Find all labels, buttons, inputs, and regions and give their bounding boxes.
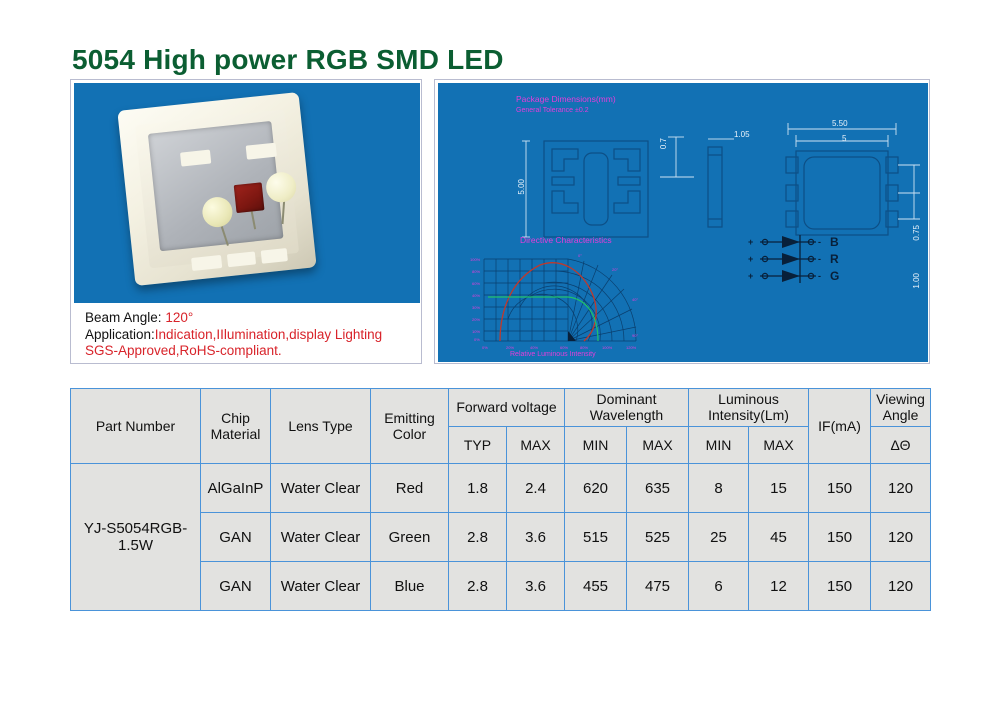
svg-text:100%: 100% (470, 257, 481, 262)
application-value: Indication,IIlumination,display Lighting (155, 327, 382, 342)
technical-drawing: Package Dimensions(mm) General Tolerance… (438, 83, 928, 362)
lens-view-svg (768, 115, 928, 245)
cell-chip-material: GAN (201, 513, 271, 562)
led-package-image (117, 92, 316, 286)
th-li-min: MIN (689, 426, 749, 464)
svg-text:80%: 80% (580, 345, 588, 350)
drawing-subheading: General Tolerance ±0.2 (516, 107, 589, 114)
cell-li-max: 15 (749, 464, 809, 513)
beam-angle-line: Beam Angle: 120° (85, 310, 423, 327)
cell-viewing-angle: 120 (871, 562, 931, 611)
led-notch (191, 255, 222, 271)
dim-pad-width: 1.00 (912, 273, 921, 289)
svg-text:120%: 120% (626, 345, 637, 350)
cell-li-min: 8 (689, 464, 749, 513)
polarity-diagram-svg: +++ --- (738, 233, 898, 295)
svg-text:-: - (818, 271, 821, 281)
led-notch (246, 143, 277, 160)
th-fv-typ: TYP (449, 426, 507, 464)
dim-pad-pitch: 0.75 (912, 225, 921, 241)
cell-fv-max: 2.4 (507, 464, 565, 513)
cell-emitting-color: Green (371, 513, 449, 562)
cell-dw-max: 635 (627, 464, 689, 513)
dim-thickness: 1.05 (734, 130, 750, 139)
svg-text:90°: 90° (632, 333, 638, 338)
table-header-row-top: Part Number Chip Material Lens Type Emit… (71, 389, 931, 427)
package-drawing-panel: Package Dimensions(mm) General Tolerance… (434, 79, 930, 364)
application-line: Application:Indication,IIlumination,disp… (85, 327, 423, 344)
svg-text:100%: 100% (602, 345, 613, 350)
cell-fv-max: 3.6 (507, 513, 565, 562)
svg-text:40°: 40° (632, 297, 638, 302)
th-emitting-color: Emitting Color (371, 389, 449, 464)
th-viewing-angle: Viewing Angle (871, 389, 931, 427)
led-die-red (234, 182, 265, 213)
cell-li-min: 25 (689, 513, 749, 562)
cell-viewing-angle: 120 (871, 464, 931, 513)
cell-emitting-color: Blue (371, 562, 449, 611)
dim-width-inner: 5 (842, 134, 846, 143)
svg-text:+: + (748, 254, 753, 264)
th-forward-voltage: Forward voltage (449, 389, 565, 427)
page-title: 5054 High power RGB SMD LED (72, 44, 504, 76)
cell-lens-type: Water Clear (271, 513, 371, 562)
svg-text:40%: 40% (530, 345, 538, 350)
th-lens-type: Lens Type (271, 389, 371, 464)
cell-dw-max: 475 (627, 562, 689, 611)
cell-li-min: 6 (689, 562, 749, 611)
cell-fv-typ: 2.8 (449, 513, 507, 562)
side-view-svg (694, 133, 740, 251)
cell-dw-max: 525 (627, 513, 689, 562)
led-cavity (148, 121, 284, 251)
led-notch (227, 251, 256, 267)
dim-pad-gap: 0.7 (659, 138, 668, 149)
svg-text:-: - (818, 237, 821, 247)
svg-text:60%: 60% (560, 345, 568, 350)
th-dominant-wavelength: Dominant Wavelength (565, 389, 689, 427)
cell-dw-min: 455 (565, 562, 627, 611)
directivity-chart-svg: 100%80%60% 40%30%20% 10%0% 0%20%40% 60%8… (466, 249, 686, 357)
svg-text:-: - (818, 254, 821, 264)
th-fv-max: MAX (507, 426, 565, 464)
cell-fv-typ: 1.8 (449, 464, 507, 513)
beam-angle-label: Beam Angle: (85, 310, 162, 325)
th-part-number: Part Number (71, 389, 201, 464)
drawing-heading: Package Dimensions(mm) (516, 94, 616, 104)
cell-lens-type: Water Clear (271, 562, 371, 611)
th-luminous-intensity: Luminous Intensity(Lm) (689, 389, 809, 427)
svg-text:20°: 20° (612, 267, 618, 272)
led-notch (180, 150, 211, 167)
polarity-label-r: R (830, 252, 839, 266)
cell-dw-min: 620 (565, 464, 627, 513)
datasheet-page: 5054 High power RGB SMD LED (0, 0, 1000, 704)
cell-chip-material: GAN (201, 562, 271, 611)
th-chip-material: Chip Material (201, 389, 271, 464)
th-dw-max: MAX (627, 426, 689, 464)
polarity-label-b: B (830, 235, 839, 249)
svg-text:20%: 20% (472, 317, 480, 322)
cell-dw-min: 515 (565, 513, 627, 562)
cell-if-ma: 150 (809, 562, 871, 611)
compliance-line: SGS-Approved,RoHS-compliant. (85, 343, 423, 360)
cell-li-max: 12 (749, 562, 809, 611)
svg-text:0%: 0% (482, 345, 488, 350)
product-photo-panel: Beam Angle: 120° Application:Indication,… (70, 79, 422, 364)
svg-text:30%: 30% (472, 305, 480, 310)
led-notch (261, 248, 288, 264)
svg-text:+: + (748, 237, 753, 247)
product-caption: Beam Angle: 120° Application:Indication,… (71, 306, 423, 362)
cell-part-number: YJ-S5054RGB-1.5W (71, 464, 201, 611)
cell-if-ma: 150 (809, 464, 871, 513)
beam-angle-value: 120° (165, 310, 193, 325)
th-viewing-symbol: ΔΘ (871, 426, 931, 464)
cell-chip-material: AlGaInP (201, 464, 271, 513)
th-dw-min: MIN (565, 426, 627, 464)
svg-text:20%: 20% (506, 345, 514, 350)
polarity-label-g: G (830, 269, 839, 283)
led-die-green (201, 196, 234, 229)
specification-table: Part Number Chip Material Lens Type Emit… (70, 388, 931, 611)
svg-text:80%: 80% (472, 269, 480, 274)
table-row: YJ-S5054RGB-1.5W AlGaInP Water Clear Red… (71, 464, 931, 513)
cell-li-max: 45 (749, 513, 809, 562)
directivity-chart-title: Directive Characteristics (520, 235, 612, 245)
svg-text:+: + (748, 271, 753, 281)
cell-fv-typ: 2.8 (449, 562, 507, 611)
cell-fv-max: 3.6 (507, 562, 565, 611)
svg-text:0°: 0° (578, 253, 582, 258)
svg-text:0%: 0% (474, 337, 480, 342)
dim-width-outer: 5.50 (832, 119, 848, 128)
cell-viewing-angle: 120 (871, 513, 931, 562)
directivity-chart-xlabel: Relative Luminous Intensity (510, 351, 596, 358)
th-li-max: MAX (749, 426, 809, 464)
dim-height-left: 5.00 (517, 179, 526, 195)
led-photo (74, 83, 420, 303)
th-if-ma: IF(mA) (809, 389, 871, 464)
application-label: Application: (85, 327, 155, 342)
bond-wire (250, 209, 255, 229)
svg-text:40%: 40% (472, 293, 480, 298)
cell-if-ma: 150 (809, 513, 871, 562)
cell-lens-type: Water Clear (271, 464, 371, 513)
svg-text:10%: 10% (472, 329, 480, 334)
svg-text:60%: 60% (472, 281, 480, 286)
cell-emitting-color: Red (371, 464, 449, 513)
